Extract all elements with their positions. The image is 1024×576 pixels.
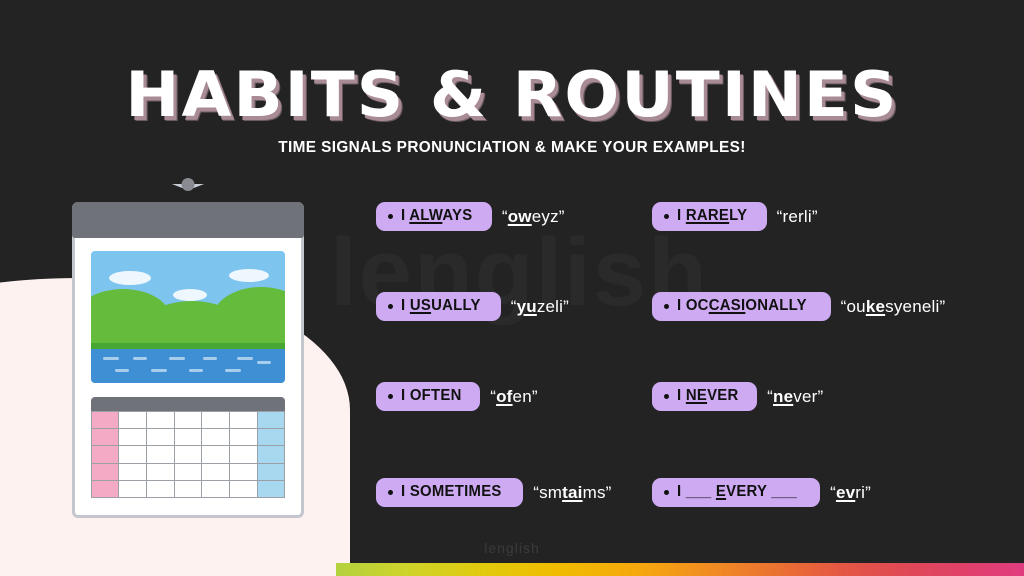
pronunciation-text: “oweyz”	[502, 207, 565, 227]
adverb-badge[interactable]: I OFTEN	[376, 382, 480, 411]
calendar-day-cell	[174, 411, 203, 429]
calendar-day-cell	[118, 463, 147, 481]
pronunciation-text: “yuzeli”	[511, 297, 569, 317]
calendar-day-cell	[174, 428, 203, 446]
calendar-day-cell	[229, 428, 258, 446]
calendar-day-cell	[257, 463, 285, 481]
calendar-day-cell	[118, 411, 147, 429]
calendar-day-cell	[91, 428, 119, 446]
adverb-columns: I ALWAYS“oweyz”I USUALLY“yuzeli”I OFTEN“…	[376, 196, 1016, 526]
calendar-body	[72, 202, 304, 518]
adverb-badge[interactable]: I USUALLY	[376, 292, 501, 321]
page-title: HABITS & ROUTINES	[0, 62, 1024, 127]
adverb-badge-label: I ___ EVERY ___	[677, 484, 797, 500]
calendar-day-cell	[118, 428, 147, 446]
calendar-day-cell	[201, 463, 230, 481]
adverb-badge[interactable]: I NEVER	[652, 382, 757, 411]
page-subtitle: TIME SIGNALS PRONUNCIATION & MAKE YOUR E…	[20, 139, 1003, 157]
calendar-top-bar	[72, 202, 304, 238]
calendar-day-cell	[201, 445, 230, 463]
calendar-day-cell	[229, 463, 258, 481]
bullet-icon	[664, 304, 669, 309]
calendar-day-cell	[91, 480, 119, 498]
adverb-badge[interactable]: I ___ EVERY ___	[652, 478, 820, 507]
calendar-hook-icon	[182, 178, 195, 191]
calendar-day-cell	[201, 411, 230, 429]
adverb-badge[interactable]: I RARELY	[652, 202, 767, 231]
calendar-day-cell	[118, 445, 147, 463]
pronunciation-text: “smtaims”	[533, 483, 611, 503]
footer-watermark: lenglish	[0, 540, 1024, 556]
adverb-badge-label: I NEVER	[677, 388, 739, 404]
water-shape	[91, 349, 285, 383]
calendar-day-cell	[229, 445, 258, 463]
adverb-item: I OCCASIONALLY“oukesyeneli”	[652, 292, 945, 321]
calendar-day-cell	[146, 428, 175, 446]
adverb-badge-label: I ALWAYS	[401, 208, 472, 224]
calendar-day-cell	[174, 463, 203, 481]
calendar-day-cell	[229, 411, 258, 429]
calendar-day-cell	[174, 445, 203, 463]
slide-canvas: lenglish HABITS & ROUTINES TIME SIGNALS …	[0, 0, 1024, 576]
bullet-icon	[664, 490, 669, 495]
calendar-month-grid	[91, 397, 285, 503]
adverb-badge-label: I OFTEN	[401, 388, 462, 404]
calendar-day-cell	[201, 480, 230, 498]
pronunciation-text: “ofen”	[490, 387, 538, 407]
adverb-badge[interactable]: I OCCASIONALLY	[652, 292, 831, 321]
calendar-grid-cells	[91, 411, 285, 498]
adverb-item: I ALWAYS“oweyz”	[376, 202, 565, 231]
hills-shape	[91, 277, 285, 349]
pronunciation-text: “oukesyeneli”	[841, 297, 946, 317]
adverb-item: I ___ EVERY ___“evri”	[652, 478, 871, 507]
calendar-day-cell	[146, 463, 175, 481]
calendar-photo-landscape	[91, 251, 285, 383]
adverb-item: I OFTEN“ofen”	[376, 382, 538, 411]
adverb-item: I USUALLY“yuzeli”	[376, 292, 569, 321]
bullet-icon	[388, 214, 393, 219]
bullet-icon	[388, 394, 393, 399]
wall-calendar-illustration	[72, 178, 304, 518]
calendar-day-cell	[91, 411, 119, 429]
header: HABITS & ROUTINES TIME SIGNALS PRONUNCIA…	[0, 62, 1024, 157]
bullet-icon	[664, 394, 669, 399]
pronunciation-text: “never”	[767, 387, 823, 407]
calendar-day-cell	[257, 445, 285, 463]
calendar-day-cell	[257, 428, 285, 446]
calendar-day-cell	[257, 411, 285, 429]
adverb-badge[interactable]: I ALWAYS	[376, 202, 492, 231]
calendar-day-cell	[91, 463, 119, 481]
pronunciation-text: “rerli”	[777, 207, 818, 227]
calendar-grid-header	[91, 397, 285, 411]
adverb-badge[interactable]: I SOMETIMES	[376, 478, 523, 507]
calendar-day-cell	[201, 428, 230, 446]
calendar-day-cell	[118, 480, 147, 498]
adverb-badge-label: I OCCASIONALLY	[677, 298, 807, 314]
calendar-day-cell	[257, 480, 285, 498]
bullet-icon	[388, 490, 393, 495]
adverb-badge-label: I USUALLY	[401, 298, 481, 314]
calendar-day-cell	[174, 480, 203, 498]
calendar-day-cell	[146, 411, 175, 429]
bottom-gradient-strip	[336, 563, 1024, 576]
pronunciation-text: “evri”	[830, 483, 871, 503]
adverb-badge-label: I RARELY	[677, 208, 747, 224]
bullet-icon	[664, 214, 669, 219]
calendar-day-cell	[146, 445, 175, 463]
adverb-item: I NEVER“never”	[652, 382, 823, 411]
calendar-day-cell	[146, 480, 175, 498]
bullet-icon	[388, 304, 393, 309]
calendar-day-cell	[229, 480, 258, 498]
adverb-item: I SOMETIMES“smtaims”	[376, 478, 612, 507]
adverb-item: I RARELY“rerli”	[652, 202, 818, 231]
adverb-badge-label: I SOMETIMES	[401, 484, 502, 500]
calendar-day-cell	[91, 445, 119, 463]
